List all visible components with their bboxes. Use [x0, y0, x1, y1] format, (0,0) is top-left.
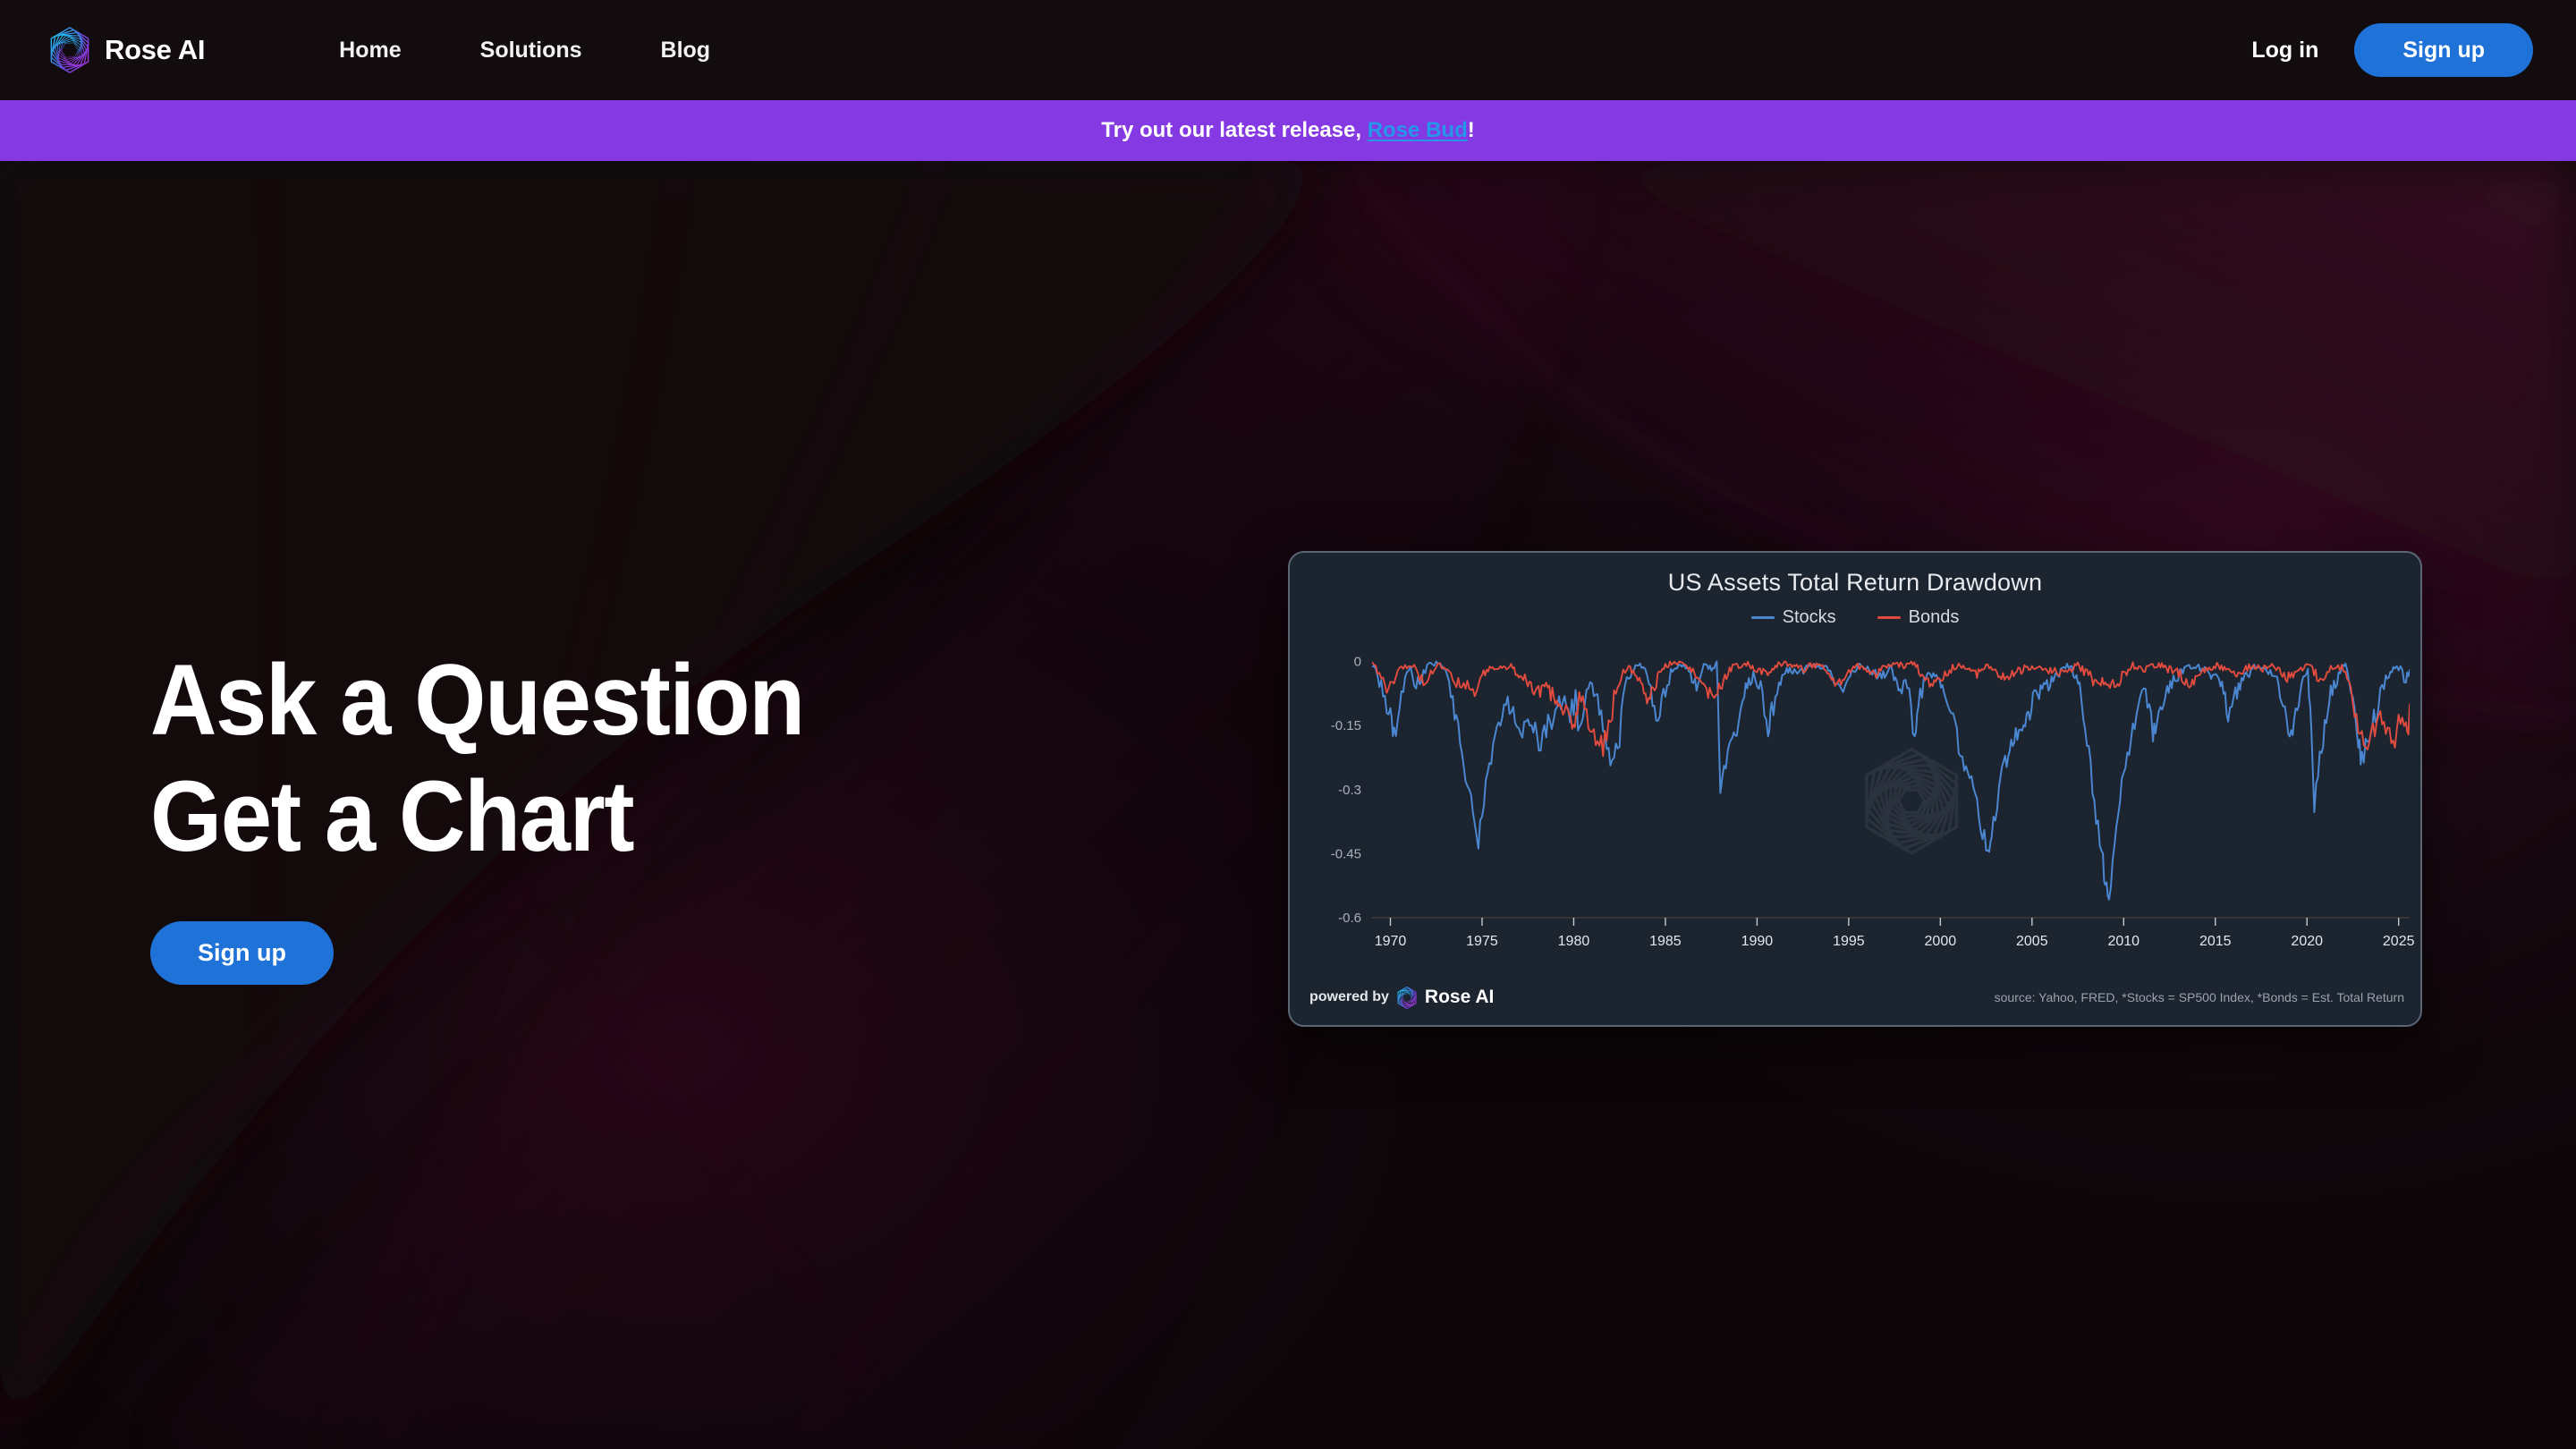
svg-text:-0.3: -0.3 — [1338, 783, 1361, 798]
chart-source-note: source: Yahoo, FRED, *Stocks = SP500 Ind… — [1995, 990, 2404, 1004]
announcement-banner[interactable]: Try out our latest release, Rose Bud! — [0, 100, 2576, 161]
rose-hexagon-spiral-icon-small — [1397, 987, 1417, 1009]
nav-actions: Log in Sign up — [2251, 23, 2533, 78]
nav-link-home[interactable]: Home — [339, 29, 401, 72]
svg-text:-0.45: -0.45 — [1331, 846, 1361, 861]
primary-nav-links: Home Solutions Blog — [339, 29, 710, 72]
signup-button-hero[interactable]: Sign up — [150, 921, 334, 985]
legend-item-bonds[interactable]: Bonds — [1877, 607, 1960, 628]
legend-label-stocks: Stocks — [1783, 607, 1836, 628]
svg-text:1970: 1970 — [1375, 934, 1407, 949]
powered-by-brand: Rose AI — [1425, 987, 1494, 1008]
signup-button-nav[interactable]: Sign up — [2354, 23, 2533, 78]
legend-swatch-stocks — [1751, 616, 1775, 619]
login-link[interactable]: Log in — [2251, 38, 2318, 64]
svg-text:2010: 2010 — [2107, 934, 2140, 949]
svg-text:1980: 1980 — [1558, 934, 1590, 949]
nav-link-blog[interactable]: Blog — [661, 29, 711, 72]
powered-by-label: powered by — [1309, 989, 1389, 1005]
svg-text:1975: 1975 — [1466, 934, 1498, 949]
chart-preview-card: US Assets Total Return Drawdown Stocks B… — [1288, 551, 2422, 1027]
svg-text:1995: 1995 — [1833, 934, 1865, 949]
announcement-text: Try out our latest release, Rose Bud! — [1101, 118, 1474, 143]
brand-name: Rose AI — [105, 34, 205, 66]
legend-item-stocks[interactable]: Stocks — [1751, 607, 1836, 628]
rose-hexagon-spiral-icon — [49, 27, 90, 73]
svg-text:2000: 2000 — [1925, 934, 1957, 949]
legend-label-bonds: Bonds — [1909, 607, 1960, 628]
chart-plot-area: 0-0.15-0.3-0.45-0.6197019751980198519901… — [1290, 646, 2422, 968]
nav-link-solutions[interactable]: Solutions — [480, 29, 582, 72]
hero-headline-line1: Ask a Question — [150, 642, 804, 758]
landing-page: Rose AI Home Solutions Blog Log in Sign … — [0, 0, 2576, 1449]
svg-text:1990: 1990 — [1741, 934, 1774, 949]
svg-text:2015: 2015 — [2199, 934, 2232, 949]
svg-text:2025: 2025 — [2383, 934, 2415, 949]
svg-text:2005: 2005 — [2016, 934, 2048, 949]
svg-text:0: 0 — [1354, 655, 1361, 670]
svg-text:2020: 2020 — [2291, 934, 2323, 949]
chart-title: US Assets Total Return Drawdown — [1290, 569, 2420, 597]
chart-plot-svg: 0-0.15-0.3-0.45-0.6197019751980198519901… — [1290, 646, 2422, 968]
brand-logo-link[interactable]: Rose AI — [49, 27, 205, 73]
announcement-prefix: Try out our latest release, — [1101, 118, 1367, 142]
svg-text:-0.6: -0.6 — [1338, 911, 1361, 926]
hero-headline-line2: Get a Chart — [150, 758, 804, 875]
svg-text:1985: 1985 — [1649, 934, 1682, 949]
top-navigation-bar: Rose AI Home Solutions Blog Log in Sign … — [0, 0, 2576, 100]
svg-text:-0.15: -0.15 — [1331, 718, 1361, 733]
announcement-link-rose-bud[interactable]: Rose Bud — [1368, 118, 1468, 142]
chart-legend: Stocks Bonds — [1290, 607, 2420, 628]
hero-section: Ask a Question Get a Chart Sign up — [150, 642, 860, 985]
legend-swatch-bonds — [1877, 616, 1901, 619]
chart-footer: powered by Rose AI source: Yahoo, FRED, … — [1290, 970, 2422, 1025]
announcement-suffix: ! — [1468, 118, 1475, 142]
powered-by-group: powered by Rose AI — [1309, 987, 1494, 1009]
